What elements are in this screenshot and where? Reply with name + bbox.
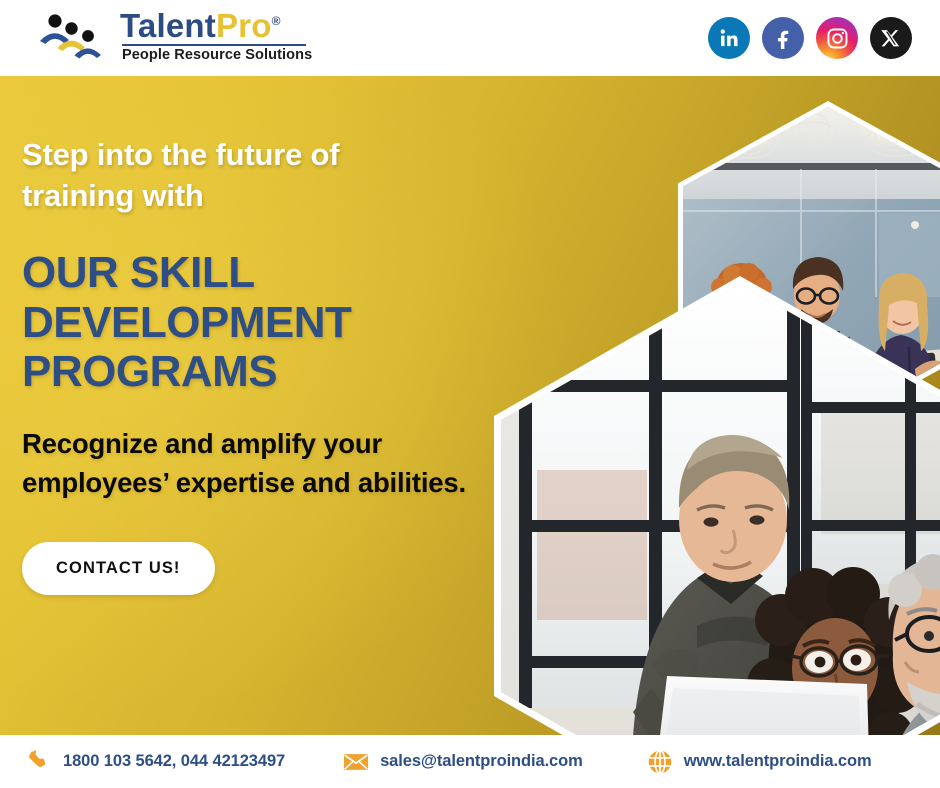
phone-icon: [26, 749, 52, 775]
header-bar: TalentPro® People Resource Solutions: [0, 0, 940, 76]
linkedin-glyph: [718, 27, 740, 49]
brand-tagline: People Resource Solutions: [120, 48, 312, 63]
laptop: [631, 676, 891, 735]
footer-website[interactable]: www.talentproindia.com: [647, 749, 872, 775]
footer-website-text: www.talentproindia.com: [684, 752, 872, 771]
footer-email[interactable]: sales@talentproindia.com: [343, 749, 583, 775]
brand-wordmark: TalentPro® People Resource Solutions: [120, 9, 312, 62]
hero-headline: OUR SKILL DEVELOPMENT PROGRAMS: [22, 248, 452, 396]
brand-name-part1: Talent: [120, 7, 216, 44]
footer-phone-text: 1800 103 5642, 044 42123497: [63, 752, 285, 771]
social-links: [708, 17, 912, 59]
facebook-glyph: [772, 27, 794, 49]
footer-email-text: sales@talentproindia.com: [380, 752, 583, 771]
hero-eyebrow: Step into the future of training with: [22, 134, 442, 216]
x-twitter-glyph: [881, 28, 901, 48]
brand-name: TalentPro®: [120, 9, 312, 42]
globe-icon: [647, 749, 673, 775]
linkedin-icon[interactable]: [708, 17, 750, 59]
instagram-glyph: [826, 27, 849, 50]
logo-divider: [122, 44, 306, 46]
hero-subcopy: Recognize and amplify your employees’ ex…: [22, 424, 472, 502]
brand-logo[interactable]: TalentPro® People Resource Solutions: [38, 9, 312, 62]
hero-copy: Step into the future of training with OU…: [22, 134, 492, 595]
footer-phone[interactable]: 1800 103 5642, 044 42123497: [26, 749, 285, 775]
hero-section: Step into the future of training with OU…: [0, 76, 940, 735]
x-twitter-icon[interactable]: [870, 17, 912, 59]
brand-name-part2: Pro: [216, 7, 272, 44]
envelope-icon: [343, 749, 369, 775]
instagram-icon[interactable]: [816, 17, 858, 59]
footer-contact-bar: 1800 103 5642, 044 42123497 sales@talent…: [0, 735, 940, 788]
facebook-icon[interactable]: [762, 17, 804, 59]
three-people-logo-icon: [38, 12, 110, 60]
registered-mark: ®: [272, 14, 281, 28]
contact-us-button[interactable]: CONTACT US!: [22, 542, 215, 595]
marketing-banner: TalentPro® People Resource Solutions: [0, 0, 940, 788]
